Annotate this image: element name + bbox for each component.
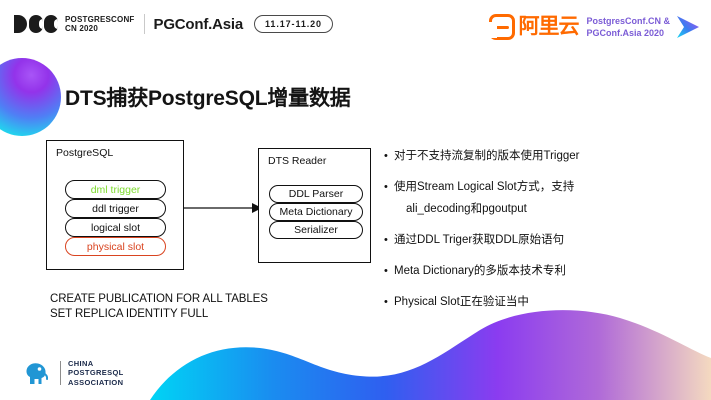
date-badge: 11.17-11.20 <box>254 15 333 33</box>
play-triangle-icon <box>675 13 701 41</box>
alibaba-cloud-logo: 阿里云 <box>489 14 578 40</box>
postgresql-box-label: PostgreSQL <box>56 147 113 159</box>
association-line2: POSTGRESQL <box>68 368 124 378</box>
slide-canvas: POSTGRESCONF CN 2020 PGConf.Asia 11.17-1… <box>0 0 711 400</box>
bullet-marker-icon: • <box>384 232 394 248</box>
pill-dml-trigger: dml trigger <box>65 180 166 199</box>
bullet-text: 对于不支持流复制的版本使用Trigger <box>394 148 580 164</box>
list-item: • Meta Dictionary的多版本技术专利 <box>384 263 709 279</box>
pill-serializer: Serializer <box>269 221 363 239</box>
slide-header: POSTGRESCONF CN 2020 PGConf.Asia 11.17-1… <box>0 0 711 56</box>
alibaba-bracket-icon <box>489 14 515 40</box>
postgresql-box: PostgreSQL dml trigger ddl trigger logic… <box>46 140 184 270</box>
bullet-text: 使用Stream Logical Slot方式，支持 <box>394 179 574 195</box>
list-item: • 使用Stream Logical Slot方式，支持 <box>384 179 709 195</box>
pill-ddl-trigger: ddl trigger <box>65 199 166 218</box>
pill-ddl-parser: DDL Parser <box>269 185 363 203</box>
conference-line2: PGConf.Asia 2020 <box>586 27 670 39</box>
pill-logical-slot: logical slot <box>65 218 166 237</box>
pcc-line1: POSTGRESCONF <box>65 15 135 24</box>
pgconf-asia-label: PGConf.Asia <box>154 16 243 33</box>
logo-divider <box>60 361 61 385</box>
conference-line1: PostgresConf.CN & <box>586 15 670 27</box>
china-postgresql-association-logo: CHINA POSTGRESQL ASSOCIATION <box>22 358 124 388</box>
list-item: • 对于不支持流复制的版本使用Trigger <box>384 148 709 164</box>
bullet-list: • 对于不支持流复制的版本使用Trigger • 使用Stream Logica… <box>384 148 709 325</box>
association-name: CHINA POSTGRESQL ASSOCIATION <box>68 359 124 388</box>
conference-name-block: PostgresConf.CN & PGConf.Asia 2020 <box>586 15 670 39</box>
bullet-text: 通过DDL Triger获取DDL原始语句 <box>394 232 564 248</box>
bullet-marker-icon: • <box>384 294 394 310</box>
dts-reader-box-label: DTS Reader <box>268 155 326 167</box>
elephant-icon <box>22 358 52 388</box>
pill-physical-slot: physical slot <box>65 237 166 256</box>
postgresconf-cn-label: POSTGRESCONF CN 2020 <box>65 15 135 33</box>
flow-arrow-icon <box>180 200 262 216</box>
bullet-marker-icon: • <box>384 148 394 164</box>
bullet-marker-icon: • <box>384 179 394 195</box>
page-title: DTS捕获PostgreSQL增量数据 <box>65 82 351 112</box>
list-item: • Physical Slot正在验证当中 <box>384 294 709 310</box>
header-left-branding: POSTGRESCONF CN 2020 PGConf.Asia 11.17-1… <box>14 14 333 34</box>
association-line1: CHINA <box>68 359 124 369</box>
sql-command-note: CREATE PUBLICATION FOR ALL TABLES SET RE… <box>50 292 268 321</box>
bullet-marker-icon: • <box>384 263 394 279</box>
bullet-text: Meta Dictionary的多版本技术专利 <box>394 263 566 279</box>
header-divider <box>144 14 145 34</box>
list-item: • 通过DDL Triger获取DDL原始语句 <box>384 232 709 248</box>
alibaba-cloud-cn-label: 阿里云 <box>518 15 578 39</box>
association-line3: ASSOCIATION <box>68 378 124 388</box>
dts-reader-box: DTS Reader DDL Parser Meta Dictionary Se… <box>258 148 371 263</box>
pcc-logo-icon <box>14 15 58 33</box>
bullet-text: Physical Slot正在验证当中 <box>394 294 529 310</box>
pcc-line2: CN 2020 <box>65 24 135 33</box>
pill-meta-dictionary: Meta Dictionary <box>269 203 363 221</box>
header-right-branding: 阿里云 PostgresConf.CN & PGConf.Asia 2020 <box>489 13 701 41</box>
bullet-subtext: ali_decoding和pgoutput <box>406 201 709 217</box>
